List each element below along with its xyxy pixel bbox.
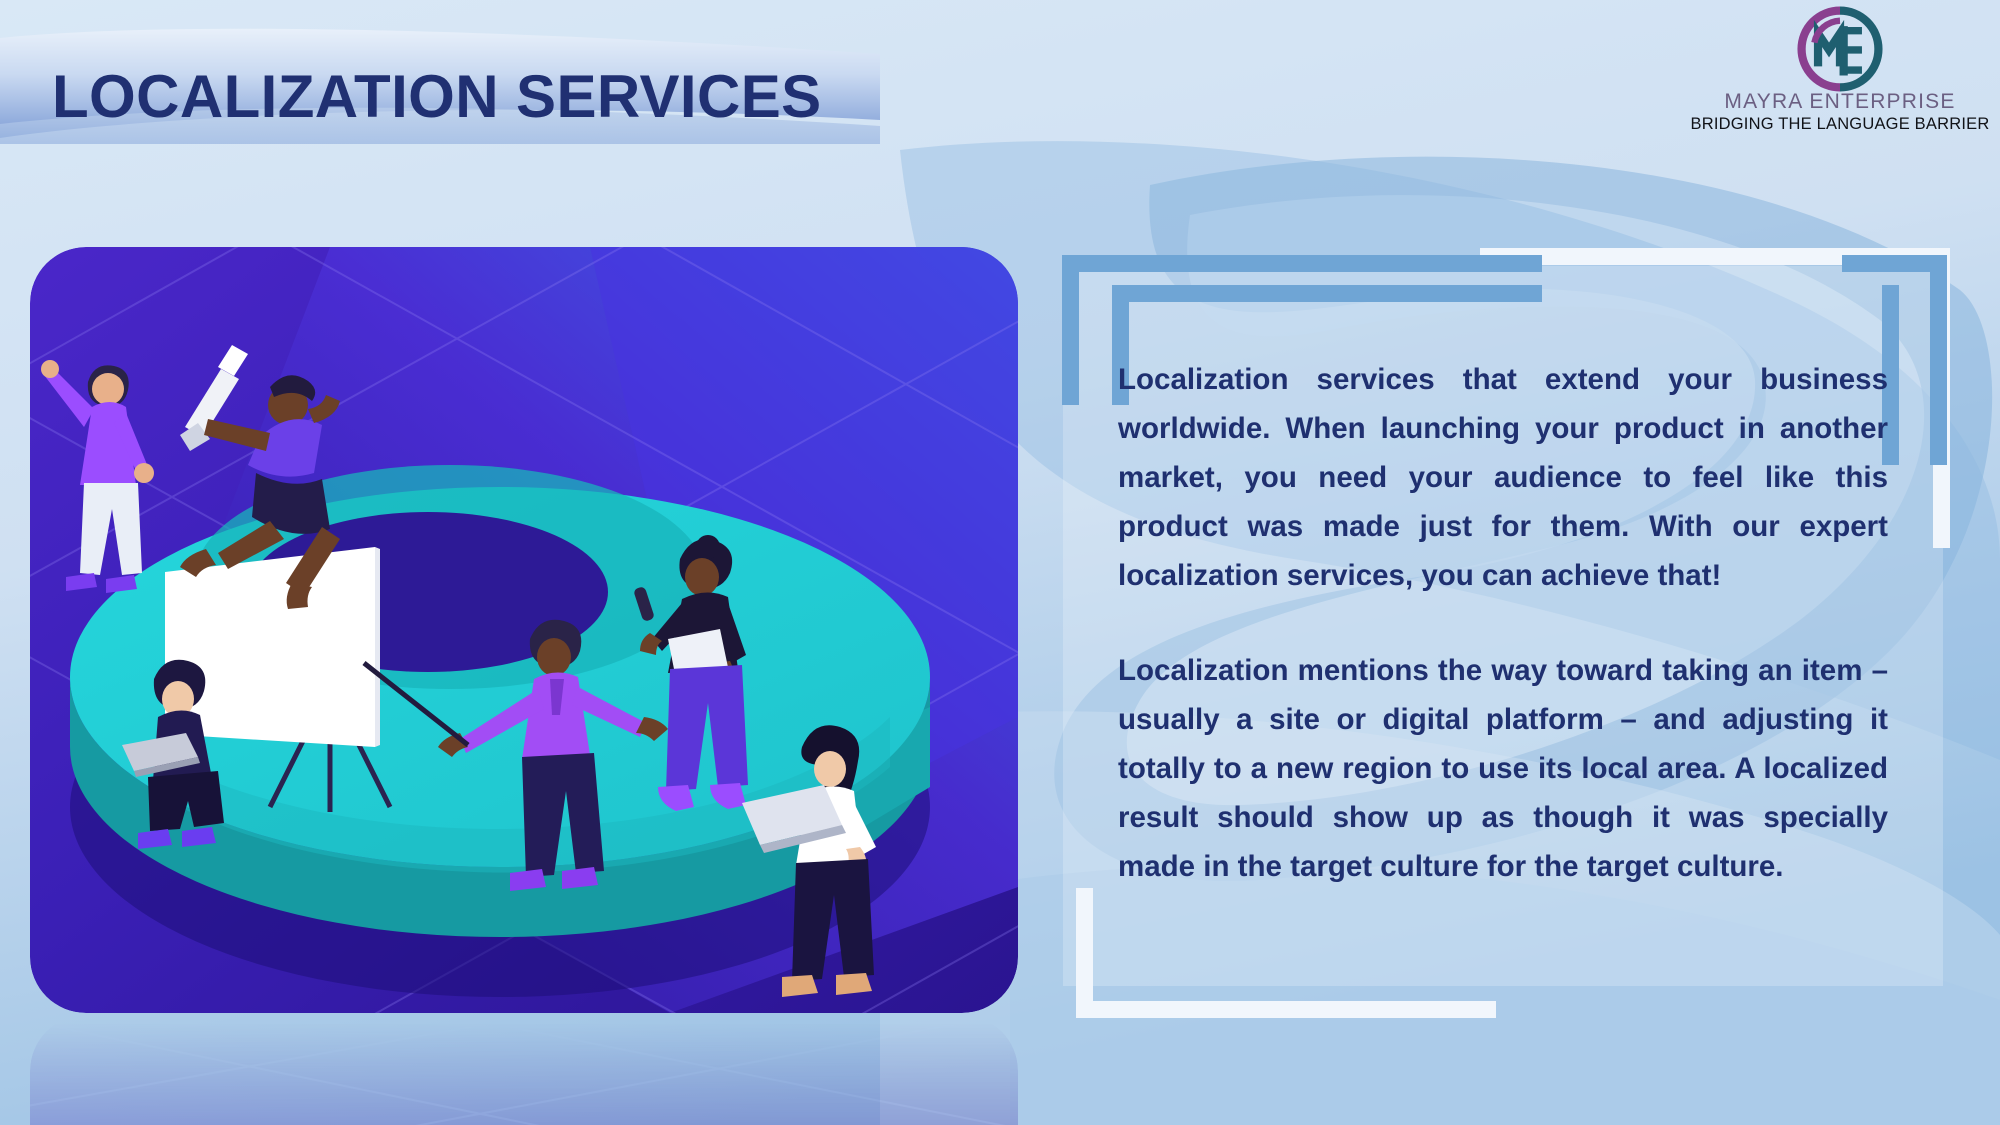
- illustration-card: [30, 247, 1018, 1013]
- slide-canvas: LOCALIZATION SERVICES MAYRA ENTERPRISE B…: [0, 0, 2000, 1125]
- illustration-reflection: [30, 1015, 1018, 1125]
- paragraph-2: Localization mentions the way toward tak…: [1118, 646, 1888, 891]
- page-title: LOCALIZATION SERVICES: [52, 62, 822, 131]
- paragraph-1: Localization services that extend your b…: [1118, 355, 1888, 600]
- brand-name: MAYRA ENTERPRISE: [1690, 90, 1990, 114]
- brand-tagline: BRIDGING THE LANGUAGE BARRIER: [1690, 115, 1990, 134]
- title-banner: LOCALIZATION SERVICES: [0, 28, 880, 144]
- isometric-team-illustration: [30, 247, 1018, 1013]
- body-text-block: Localization services that extend your b…: [1118, 355, 1888, 891]
- brand-logo-block: MAYRA ENTERPRISE BRIDGING THE LANGUAGE B…: [1690, 6, 1990, 134]
- me-monogram-circle-icon: [1794, 6, 1886, 92]
